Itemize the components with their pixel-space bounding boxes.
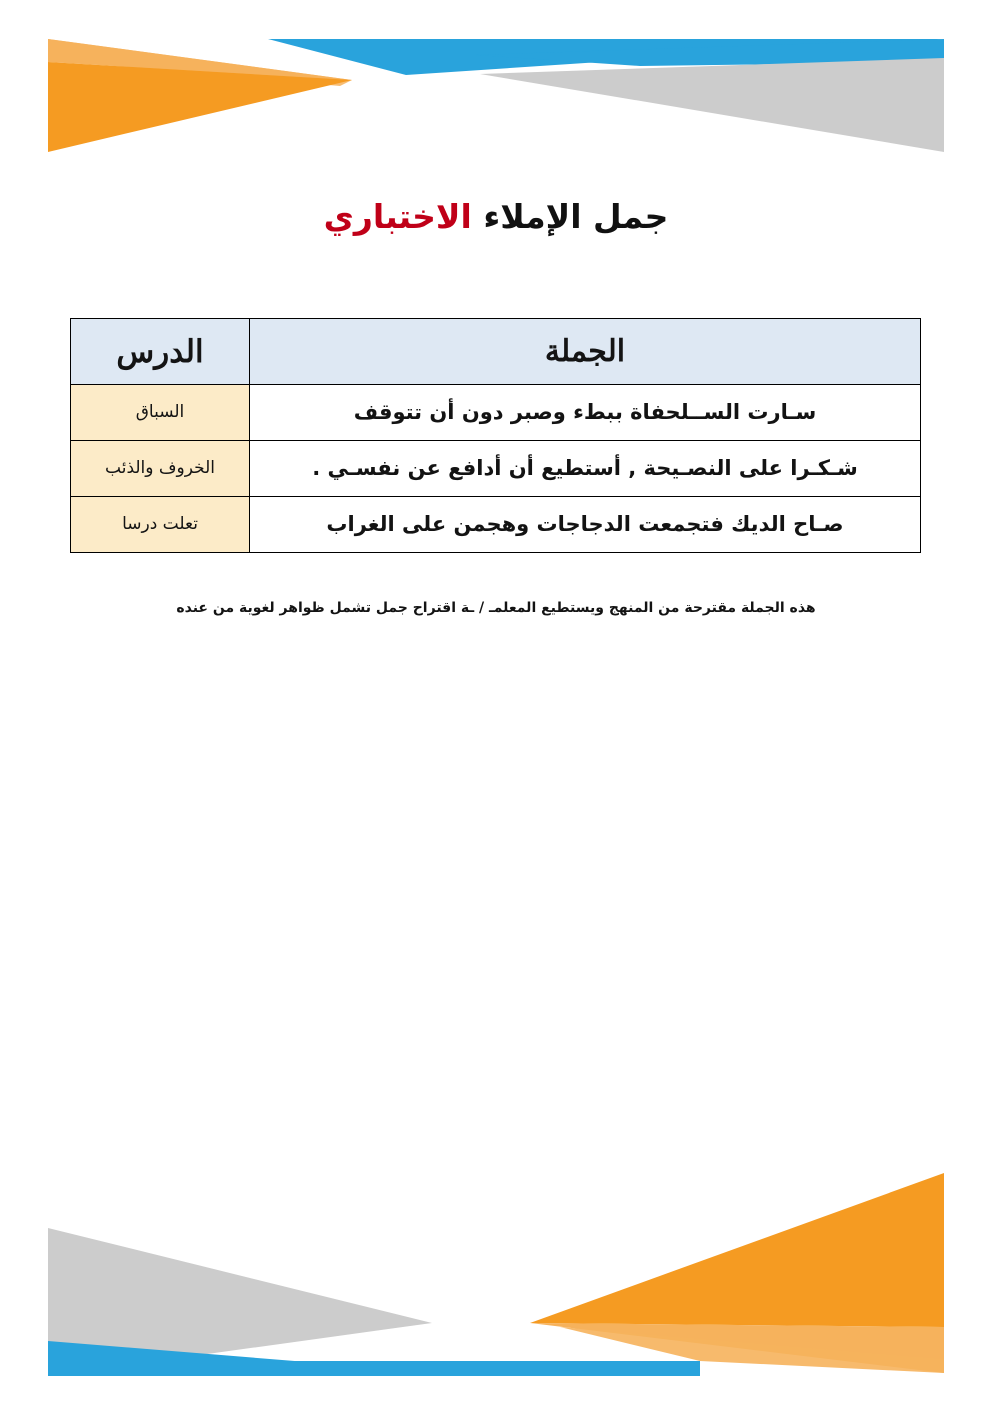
sentences-table-container: الجملة الدرس سـارت الســلحفاة ببطء وصبر …	[71, 318, 921, 553]
orange-light-triangle-right-shape	[530, 1323, 944, 1373]
gray-triangle-left-shape	[48, 1228, 432, 1376]
orange-light-triangle-left-shape	[48, 39, 352, 80]
blue-triangle-top-shape	[268, 39, 944, 75]
blue-triangle-bottom-shape	[48, 1341, 480, 1376]
orange-triangle-right-shape	[530, 1173, 944, 1327]
page-title-primary: جمل الإملاء	[483, 197, 668, 236]
cell-sentence: سـارت الســلحفاة ببطء وصبر دون أن تتوقف	[250, 385, 921, 441]
blue-triangle-top-shape-2	[476, 39, 944, 66]
gray-triangle-right-shape	[480, 58, 944, 152]
footnote-container: هذه الجملة مقترحة من المنهج ويستطيع المع…	[0, 597, 992, 616]
cell-sentence: شـكـرا على النصـيحة , أستطيع أن أدافع عن…	[250, 441, 921, 497]
column-header-sentence: الجملة	[250, 319, 921, 385]
cell-sentence: صـاح الديك فتجمعت الدجاجات وهجمن على الغ…	[250, 497, 921, 553]
table-header: الجملة الدرس	[71, 319, 921, 385]
orange-light-triangle-left-shape-2	[48, 39, 352, 86]
column-header-lesson: الدرس	[71, 319, 250, 385]
page-title-container: جمل الإملاء الاختباري	[0, 196, 992, 237]
page-canvas: جمل الإملاء الاختباري الجملة الدرس سـارت…	[0, 0, 992, 1403]
orange-triangle-left-shape	[48, 62, 352, 152]
footnote-text: هذه الجملة مقترحة من المنهج ويستطيع المع…	[176, 600, 815, 616]
cell-lesson: تعلت درسا	[71, 497, 250, 553]
page-title-highlight: الاختباري	[324, 197, 472, 236]
cell-lesson: الخروف والذئب	[71, 441, 250, 497]
table-row: صـاح الديك فتجمعت الدجاجات وهجمن على الغ…	[71, 497, 921, 553]
page-title: جمل الإملاء الاختباري	[324, 196, 669, 237]
top-decorative-banner	[0, 0, 992, 190]
orange-light-triangle-right-shape-2	[560, 1327, 944, 1373]
table-row: شـكـرا على النصـيحة , أستطيع أن أدافع عن…	[71, 441, 921, 497]
page-title-space	[472, 197, 484, 236]
cell-lesson: السباق	[71, 385, 250, 441]
blue-triangle-bottom-shape-2	[140, 1361, 700, 1376]
bottom-decorative-banner	[0, 1073, 992, 1403]
table-body: سـارت الســلحفاة ببطء وصبر دون أن تتوقف …	[71, 385, 921, 553]
table-row: سـارت الســلحفاة ببطء وصبر دون أن تتوقف …	[71, 385, 921, 441]
table-header-row: الجملة الدرس	[71, 319, 921, 385]
sentences-table: الجملة الدرس سـارت الســلحفاة ببطء وصبر …	[70, 318, 921, 553]
